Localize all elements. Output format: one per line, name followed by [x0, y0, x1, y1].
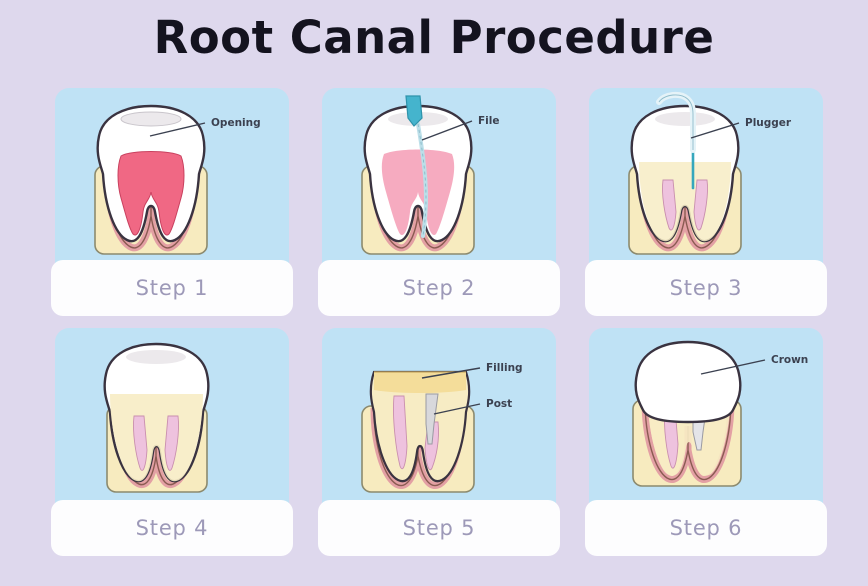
- step-5-label: Step 5: [403, 516, 476, 540]
- step-1-illustration: Opening: [55, 88, 289, 263]
- annotation-crown-text: Crown: [771, 354, 808, 366]
- step-4-footer: Step 4: [51, 500, 293, 556]
- step-3-illustration: Plugger: [589, 88, 823, 263]
- infographic-root: Root Canal Procedure: [0, 0, 868, 586]
- annotation-plugger-text: Plugger: [745, 117, 792, 129]
- step-6-label: Step 6: [670, 516, 743, 540]
- step-card-5[interactable]: Filling Post Step 5: [322, 328, 556, 548]
- step-card-4[interactable]: Step 4: [55, 328, 289, 548]
- crown-icon: [636, 342, 741, 422]
- annotation-filling-text: Filling: [486, 362, 523, 374]
- step-2-label: Step 2: [403, 276, 476, 300]
- step-4-label: Step 4: [136, 516, 209, 540]
- step-3-footer: Step 3: [585, 260, 827, 316]
- step-card-3[interactable]: Plugger Step 3: [589, 88, 823, 308]
- step-card-1[interactable]: Opening Step 1: [55, 88, 289, 308]
- steps-grid: Opening Step 1: [55, 88, 823, 568]
- annotation-filling: Filling: [422, 362, 523, 378]
- annotation-post-text: Post: [486, 398, 512, 410]
- step-4-illustration: [55, 328, 289, 503]
- step-6-illustration: Crown: [589, 328, 823, 503]
- annotation-opening-text: Opening: [211, 117, 261, 129]
- step-card-6[interactable]: Crown Step 6: [589, 328, 823, 548]
- step-2-footer: Step 2: [318, 260, 560, 316]
- step-card-2[interactable]: File Step 2: [322, 88, 556, 308]
- step-6-footer: Step 6: [585, 500, 827, 556]
- annotation-file-text: File: [478, 115, 500, 127]
- page-title: Root Canal Procedure: [0, 8, 868, 68]
- filling-icon: [374, 372, 466, 393]
- step-3-label: Step 3: [670, 276, 743, 300]
- step-1-label: Step 1: [136, 276, 209, 300]
- step-2-illustration: File: [322, 88, 556, 263]
- step-1-footer: Step 1: [51, 260, 293, 316]
- step-5-illustration: Filling Post: [322, 328, 556, 503]
- step-5-footer: Step 5: [318, 500, 560, 556]
